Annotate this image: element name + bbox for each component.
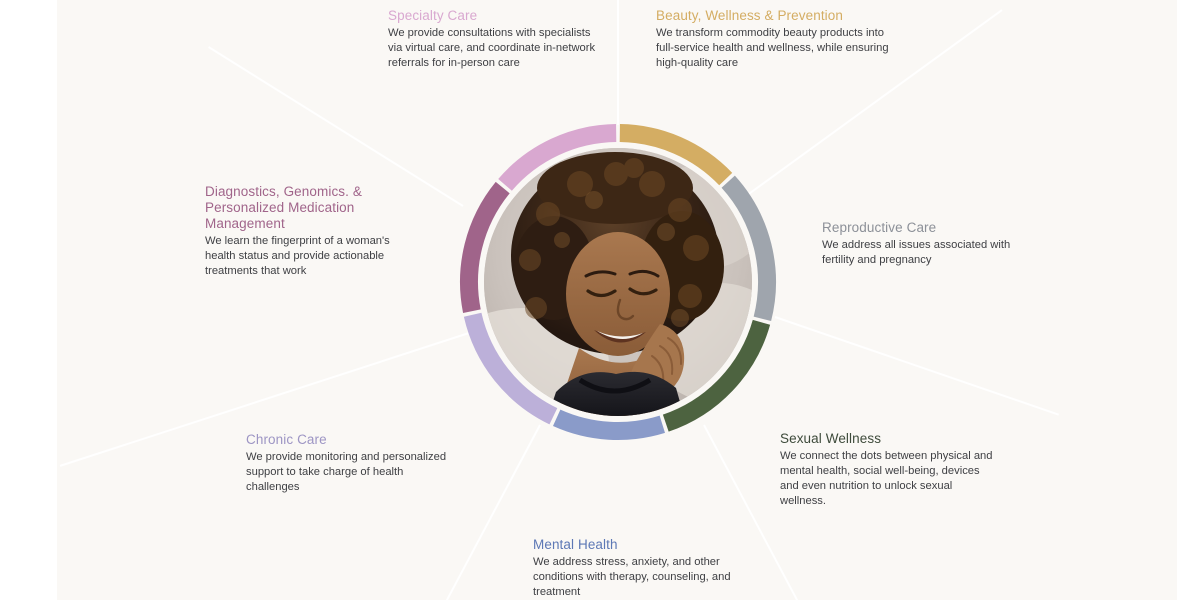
section-body: We address stress, anxiety, and other co… [533, 555, 743, 600]
section-specialty-care: Specialty Care We provide consultations … [388, 8, 603, 71]
section-body: We provide consultations with specialist… [388, 26, 603, 71]
services-donut-ring [460, 124, 776, 440]
section-title: Diagnostics, Genomics. & Personalized Me… [205, 184, 400, 232]
divider-line-top [617, 0, 619, 125]
section-title: Beauty, Wellness & Prevention [656, 8, 896, 24]
section-sexual-wellness: Sexual Wellness We connect the dots betw… [780, 431, 995, 509]
section-beauty-wellness-prevention: Beauty, Wellness & Prevention We transfo… [656, 8, 896, 71]
center-photo [484, 148, 752, 416]
section-body: We provide monitoring and personalized s… [246, 450, 451, 495]
section-title: Sexual Wellness [780, 431, 995, 447]
section-mental-health: Mental Health We address stress, anxiety… [533, 537, 743, 600]
section-title: Chronic Care [246, 432, 451, 448]
section-title: Mental Health [533, 537, 743, 553]
section-body: We connect the dots between physical and… [780, 449, 995, 509]
section-chronic-care: Chronic Care We provide monitoring and p… [246, 432, 451, 495]
infographic-canvas: Specialty Care We provide consultations … [0, 0, 1200, 600]
section-body: We transform commodity beauty products i… [656, 26, 896, 71]
section-reproductive-care: Reproductive Care We address all issues … [822, 220, 1022, 268]
section-diagnostics-genomics: Diagnostics, Genomics. & Personalized Me… [205, 184, 400, 279]
section-title: Reproductive Care [822, 220, 1022, 236]
ring-segment-mental[interactable] [557, 418, 663, 431]
section-body: We learn the fingerprint of a woman's he… [205, 234, 400, 279]
section-title: Specialty Care [388, 8, 603, 24]
section-body: We address all issues associated with fe… [822, 238, 1022, 268]
